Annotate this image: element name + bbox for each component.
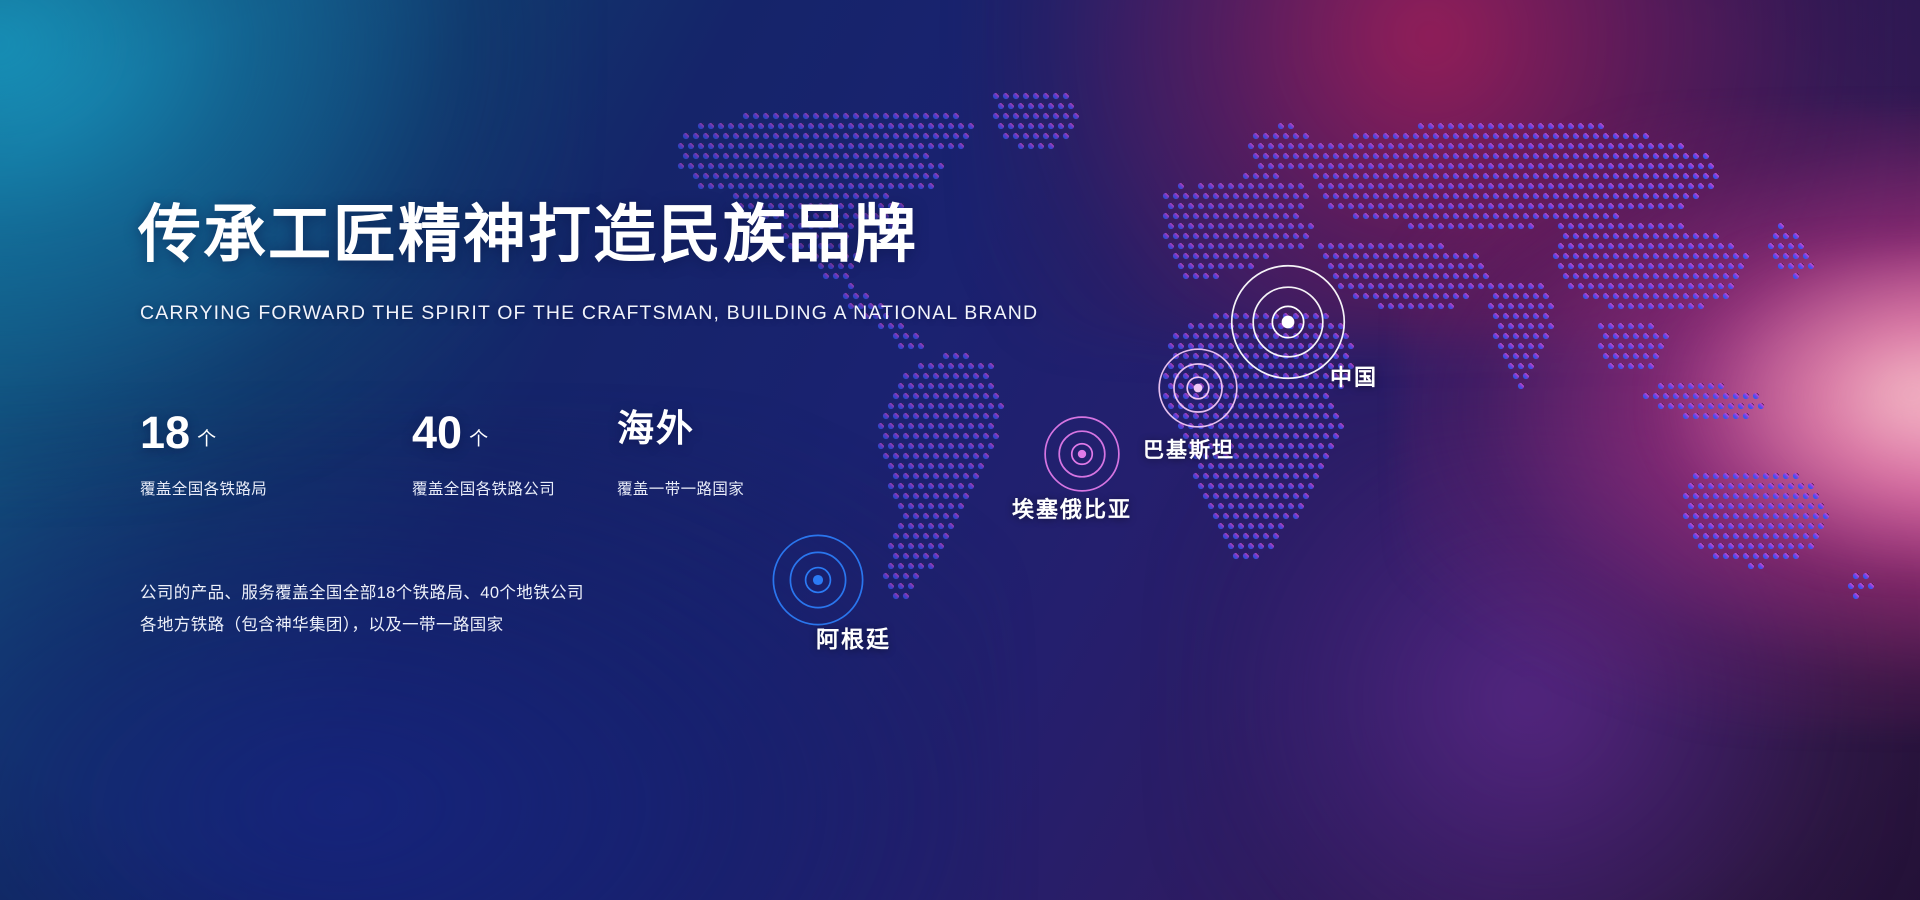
banner-stage: 中国巴基斯坦埃塞俄比亚阿根廷 传承工匠精神打造民族品牌 CARRYING FOR… xyxy=(0,0,1920,900)
vignette-overlay xyxy=(0,0,1920,900)
